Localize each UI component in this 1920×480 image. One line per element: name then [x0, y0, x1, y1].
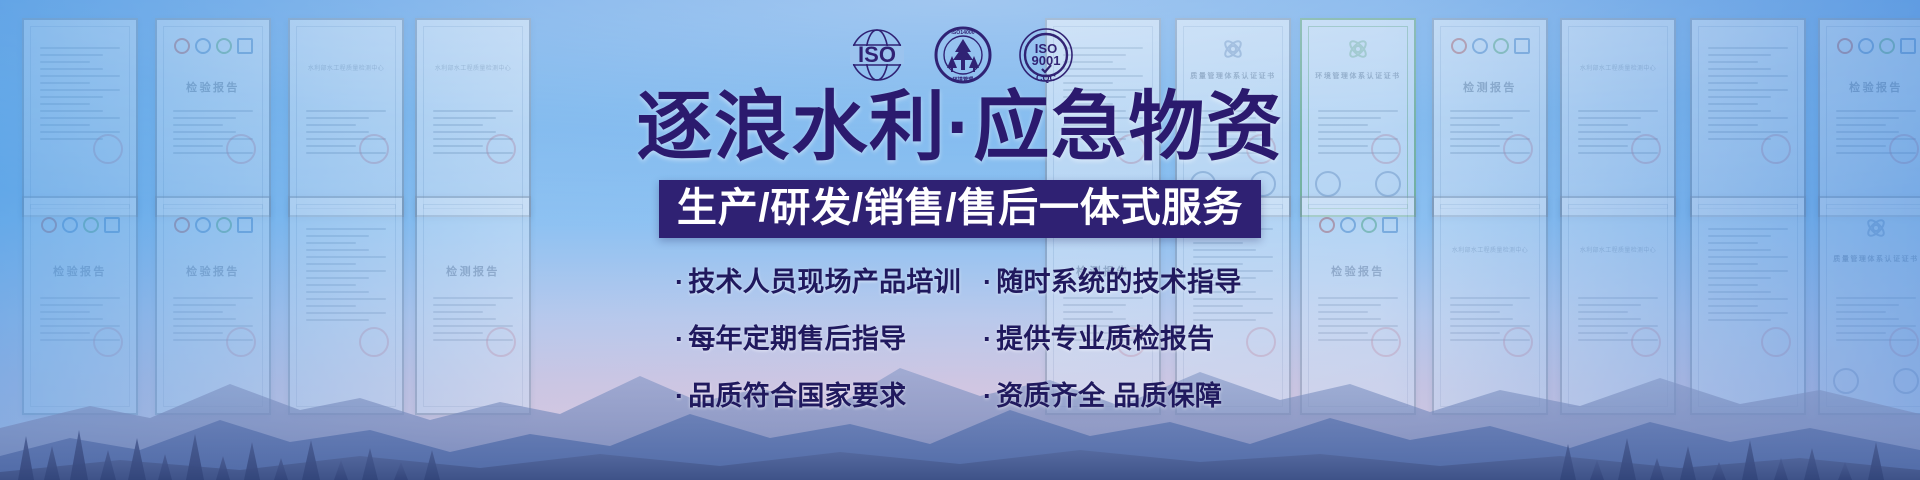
- feature-item: ·资质齐全 品质保障: [983, 374, 1245, 413]
- feature-item: ·提供专业质检报告: [983, 317, 1245, 356]
- feature-label: 提供专业质检报告: [996, 324, 1214, 354]
- svg-text:CQC: CQC: [1036, 73, 1057, 83]
- certification-badge-row: ISO ISO14000 环境管理: [846, 26, 1074, 84]
- bullet-dot-icon: ·: [983, 267, 992, 297]
- promo-banner: 检验报告水利部水工程质量检测中心水利部水工程质量检测中心质量管理体系认证证书环境…: [0, 0, 1920, 480]
- bullet-dot-icon: ·: [675, 381, 684, 411]
- feature-list: ·技术人员现场产品培训·随时系统的技术指导·每年定期售后指导·提供专业质检报告·…: [675, 260, 1245, 413]
- bullet-dot-icon: ·: [675, 267, 684, 297]
- subtitle-banner: 生产/研发/销售/售后一体式服务: [659, 180, 1261, 238]
- banner-content: ISO ISO14000 环境管理: [0, 0, 1920, 480]
- iso-globe-badge-icon: ISO: [846, 27, 908, 83]
- feature-item: ·每年定期售后指导: [675, 317, 961, 356]
- feature-label: 每年定期售后指导: [688, 324, 906, 354]
- feature-item: ·随时系统的技术指导: [983, 260, 1245, 299]
- subtitle-text: 生产/研发/销售/售后一体式服务: [677, 187, 1243, 229]
- page-title: 逐浪水利·应急物资: [637, 90, 1284, 166]
- svg-text:ISO: ISO: [858, 42, 896, 67]
- bullet-dot-icon: ·: [675, 324, 684, 354]
- feature-item: ·技术人员现场产品培训: [675, 260, 961, 299]
- feature-label: 资质齐全 品质保障: [996, 381, 1222, 411]
- iso9001-cqc-badge-icon: ISO 9001 CQC: [1018, 27, 1074, 83]
- svg-text:ISO14000: ISO14000: [951, 30, 974, 36]
- iso14000-environment-badge-icon: ISO14000 环境管理: [934, 26, 992, 84]
- feature-item: ·品质符合国家要求: [675, 374, 961, 413]
- bullet-dot-icon: ·: [983, 381, 992, 411]
- svg-text:环境管理: 环境管理: [953, 75, 975, 83]
- feature-label: 技术人员现场产品培训: [688, 267, 961, 297]
- bullet-dot-icon: ·: [983, 324, 992, 354]
- feature-label: 随时系统的技术指导: [996, 267, 1241, 297]
- svg-text:9001: 9001: [1032, 53, 1061, 68]
- feature-label: 品质符合国家要求: [688, 381, 906, 411]
